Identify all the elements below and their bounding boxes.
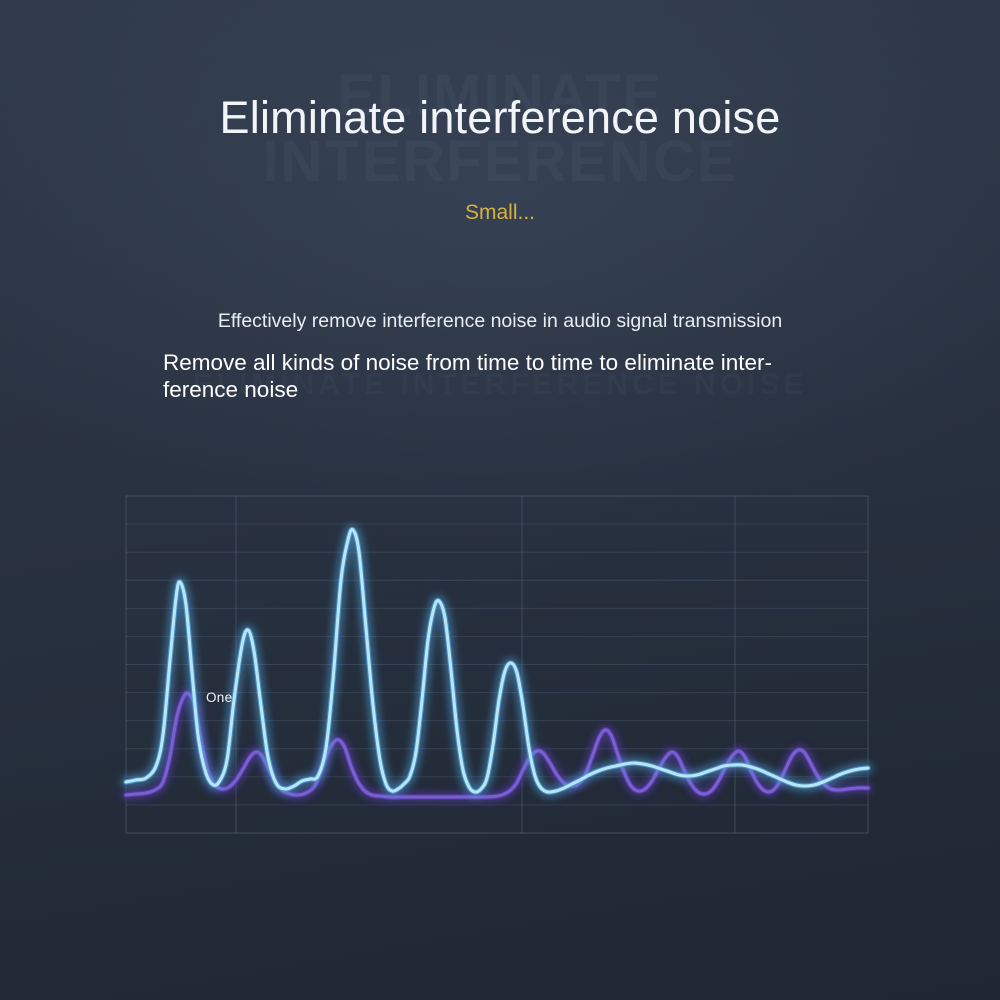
chart-series <box>126 529 868 797</box>
series-mid-noise-signal <box>126 693 868 797</box>
description-line-1: Effectively remove interference noise in… <box>0 310 1000 333</box>
waveform-chart: One <box>0 0 1000 1000</box>
description-line-3: ference noise <box>163 377 298 402</box>
series-glow-noise-signal <box>126 693 868 797</box>
page-subtitle: Small... <box>0 201 1000 225</box>
series-glow-clean-signal <box>126 529 868 792</box>
promo-page: ELIMINATE INTERFERENCE ELIMINATE INTERFE… <box>0 0 1000 1000</box>
series-line-clean-signal <box>126 529 868 792</box>
waveform-svg <box>0 0 1000 1000</box>
series-mid-clean-signal <box>126 529 868 792</box>
chart-gridlines <box>126 496 868 833</box>
description-line-2: Remove all kinds of noise from time to t… <box>163 350 772 375</box>
page-title: Eliminate interference noise <box>0 92 1000 144</box>
waveform-annotation-one: One <box>206 690 232 705</box>
series-line-noise-signal <box>126 693 868 797</box>
description-block: Remove all kinds of noise from time to t… <box>163 349 853 403</box>
